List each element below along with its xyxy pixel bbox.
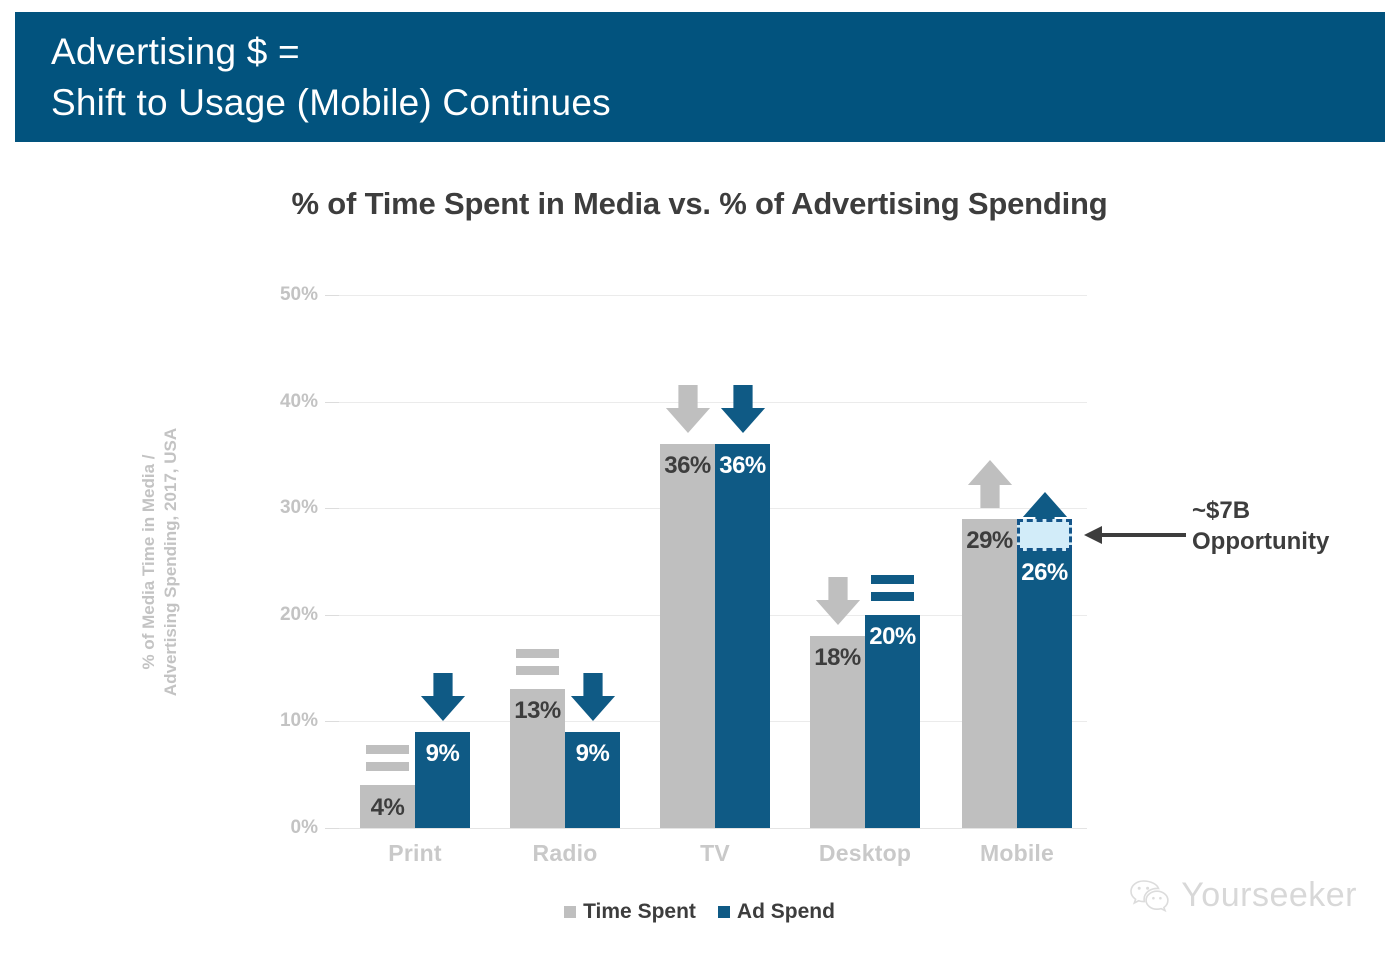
legend-label: Time Spent: [583, 900, 696, 924]
bar-value-label: 9%: [415, 740, 470, 768]
bar-value-label: 20%: [865, 623, 920, 651]
x-axis-label-print: Print: [340, 840, 490, 867]
bar-radio-time-spent[interactable]: 13%: [510, 689, 565, 828]
tick-mark-40%: [325, 402, 339, 403]
trend-equals-desktop-ad-spend-icon: [871, 575, 914, 601]
trend-down-arrow-desktop-time-spent-icon: [814, 570, 862, 632]
opportunity-annotation: ~$7B Opportunity: [1192, 495, 1329, 557]
equals-bar-top: [871, 575, 914, 584]
y-tick-label-50%: 50%: [258, 284, 318, 306]
bar-mobile-ad-spend[interactable]: 26%: [1017, 551, 1072, 828]
bar-print-time-spent[interactable]: 4%: [360, 785, 415, 828]
bar-value-label: 36%: [660, 452, 715, 480]
bar-value-label: 29%: [962, 527, 1017, 555]
bar-value-label: 13%: [510, 697, 565, 725]
bar-value-label: 4%: [360, 794, 415, 822]
x-axis-label-tv: TV: [640, 840, 790, 867]
bar-value-label: 26%: [1017, 559, 1072, 587]
trend-up-arrow-mobile-time-spent-icon: [966, 453, 1014, 515]
equals-bar-top: [516, 649, 559, 658]
tick-mark-10%: [325, 721, 339, 722]
bar-radio-ad-spend[interactable]: 9%: [565, 732, 620, 828]
x-axis-label-desktop: Desktop: [790, 840, 940, 867]
equals-bar-bottom: [871, 592, 914, 601]
bar-value-label: 36%: [715, 452, 770, 480]
y-axis-label-line-1: % of Media Time in Media /: [138, 362, 160, 762]
legend-label: Ad Spend: [737, 900, 835, 924]
wechat-icon: [1129, 878, 1171, 914]
trend-down-arrow-print-ad-spend-icon: [419, 666, 467, 728]
legend-swatch-icon: [718, 906, 730, 918]
trend-down-arrow-radio-ad-spend-icon: [569, 666, 617, 728]
y-tick-label-10%: 10%: [258, 710, 318, 732]
trend-down-arrow-tv-time-spent-icon: [664, 378, 712, 440]
equals-bar-bottom: [366, 762, 409, 771]
tick-mark-50%: [325, 295, 339, 296]
bar-desktop-time-spent[interactable]: 18%: [810, 636, 865, 828]
trend-down-arrow-tv-ad-spend-icon: [719, 378, 767, 440]
bar-mobile-time-spent[interactable]: 29%: [962, 519, 1017, 828]
tick-mark-20%: [325, 615, 339, 616]
bar-value-label: 18%: [810, 644, 865, 672]
opportunity-arrow-icon: [1078, 525, 1188, 545]
equals-bar-bottom: [516, 666, 559, 675]
legend-item-ad-spend[interactable]: Ad Spend: [718, 900, 835, 924]
bar-value-label: 9%: [565, 740, 620, 768]
y-axis-label-line-2: Advertising Spending, 2017, USA: [160, 362, 182, 762]
gridline-50%: [335, 295, 1087, 296]
opportunity-label: Opportunity: [1192, 526, 1329, 557]
watermark-label: Yourseeker: [1181, 876, 1357, 915]
y-tick-label-40%: 40%: [258, 391, 318, 413]
legend-swatch-icon: [564, 906, 576, 918]
tick-mark-30%: [325, 508, 339, 509]
opportunity-box: [1017, 519, 1072, 551]
trend-equals-radio-time-spent-icon: [516, 649, 559, 675]
x-axis-label-mobile: Mobile: [942, 840, 1092, 867]
equals-bar-top: [366, 745, 409, 754]
watermark: Yourseeker: [1129, 876, 1357, 915]
y-tick-label-30%: 30%: [258, 497, 318, 519]
chart-plot-area: % of Media Time in Media / Advertising S…: [0, 0, 1399, 960]
y-axis-label: % of Media Time in Media / Advertising S…: [138, 362, 182, 762]
legend-item-time-spent[interactable]: Time Spent: [564, 900, 696, 924]
bar-desktop-ad-spend[interactable]: 20%: [865, 615, 920, 828]
y-tick-label-0%: 0%: [258, 817, 318, 839]
trend-equals-print-time-spent-icon: [366, 745, 409, 771]
bar-tv-time-spent[interactable]: 36%: [660, 444, 715, 828]
tick-mark-0%: [325, 828, 339, 829]
opportunity-amount: ~$7B: [1192, 495, 1329, 526]
gridline-0%: [335, 828, 1087, 829]
y-tick-label-20%: 20%: [258, 604, 318, 626]
bar-tv-ad-spend[interactable]: 36%: [715, 444, 770, 828]
bar-print-ad-spend[interactable]: 9%: [415, 732, 470, 828]
x-axis-label-radio: Radio: [490, 840, 640, 867]
